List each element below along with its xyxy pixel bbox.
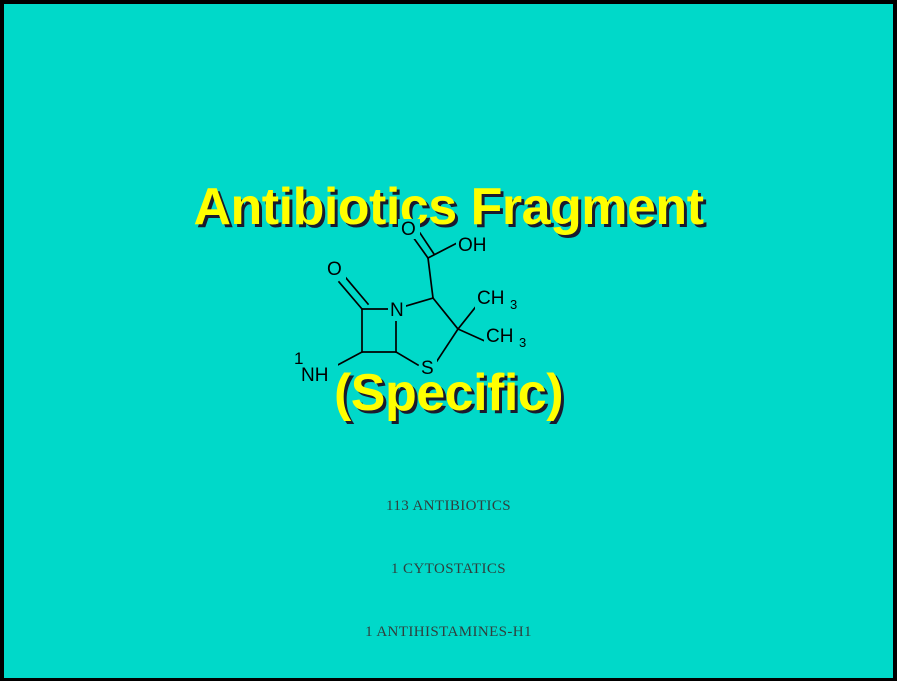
atom-label-carboxyl-oxygen: O [401, 219, 416, 240]
bond-c3-c2 [433, 298, 458, 329]
count-line-antihistamines: 1 ANTIHISTAMINES-H1 [4, 622, 893, 643]
atom-label-methyl-lower-subscript: 3 [519, 335, 526, 350]
count-line-cytostatics: 1 CYTOSTATICS [4, 559, 893, 580]
bond-c7-o-b [346, 278, 368, 304]
slide-root: Antibiotics Fragment (Specific) [0, 0, 900, 685]
chemical-structure-diagram: O O OH N S NH 1 [272, 219, 542, 399]
atom-label-methyl-upper-subscript: 3 [510, 297, 517, 312]
category-counts-list: 113 ANTIBIOTICS 1 CYTOSTATICS 1 ANTIHIST… [4, 454, 893, 678]
slide-canvas: Antibiotics Fragment (Specific) [4, 4, 893, 678]
bond-c7-o-a [339, 282, 362, 309]
bond-group-lactam-carbonyl [339, 278, 368, 309]
bond-c5-s1 [396, 352, 418, 365]
atom-label-ring-position-index: 1 [294, 349, 303, 368]
count-line-antibiotics: 113 ANTIBIOTICS [4, 496, 893, 517]
atom-label-methyl-upper: CH [477, 288, 504, 309]
atom-label-hydroxyl: OH [458, 235, 487, 256]
bond-c2-s1 [437, 329, 458, 361]
atom-label-amine: NH [301, 365, 328, 386]
bond-group-carboxyl [413, 233, 457, 298]
slide-border-frame: Antibiotics Fragment (Specific) [0, 0, 897, 681]
atom-label-methyl-lower: CH [486, 326, 513, 347]
bond-c3-ccooh [428, 258, 433, 298]
bond-c2-methyl-lower [458, 329, 487, 342]
atom-label-ketone-oxygen: O [327, 259, 342, 280]
bond-c6-nh [334, 352, 362, 367]
atom-label-ring-sulfur: S [421, 358, 434, 379]
atom-label-ring-nitrogen: N [390, 300, 404, 321]
